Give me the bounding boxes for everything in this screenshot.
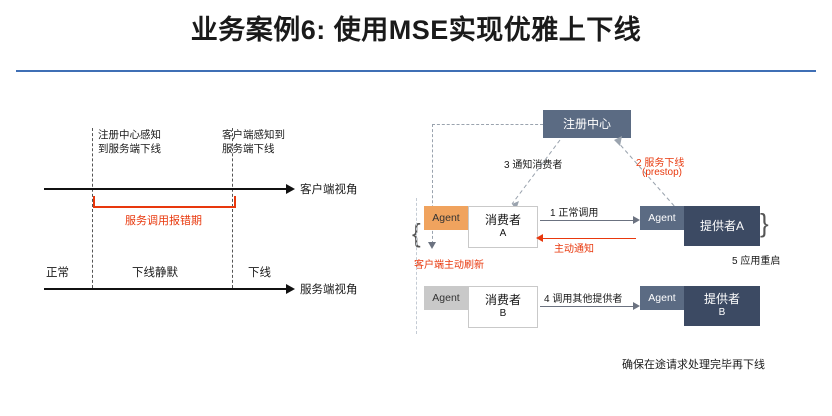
edge-label-step2-line2: (prestop) (642, 167, 682, 178)
label-registry-notify-line1: 注册中心感知 (98, 128, 161, 142)
server-timeline-axis (44, 288, 288, 290)
edge-step1-line (540, 220, 634, 221)
page-title: 业务案例6: 使用MSE实现优雅上下线 (0, 8, 832, 47)
timeline-panel: 注册中心感知 到服务端下线 客户端感知到 服务端下线 客户端视角 服务调用报错期… (0, 80, 400, 416)
agent-provider-a-label: Agent (648, 212, 675, 224)
client-timeline-axis (44, 188, 288, 190)
label-server-view: 服务端视角 (300, 281, 358, 297)
edge-active-notify-line (542, 238, 636, 239)
node-provider-b-label: 提供者 (704, 292, 740, 306)
provider-a-brace: } (760, 210, 769, 236)
edge-step1-arrow (633, 216, 640, 224)
edge-step4-line (540, 306, 634, 307)
title-divider (16, 70, 816, 72)
timeline-marker-1 (92, 128, 93, 288)
label-client-perceive-line1: 客户端感知到 (222, 128, 285, 142)
edge-label-step5: 5 应用重启 (732, 252, 780, 267)
label-phase-normal: 正常 (46, 264, 69, 280)
edge-step4-arrow (633, 302, 640, 310)
agent-provider-b-label: Agent (648, 292, 675, 304)
agent-provider-b[interactable]: Agent (640, 286, 684, 310)
node-registry-label: 注册中心 (563, 117, 611, 131)
footnote: 确保在途请求处理完毕再下线 (622, 356, 765, 372)
edge-label-step3: 3 通知消费者 (504, 156, 562, 171)
architecture-panel: 注册中心 3 通知消费者 2 服务下线 (prestop) Agent 消费者 … (400, 80, 832, 416)
client-timeline-arrow (286, 184, 295, 194)
agent-provider-a[interactable]: Agent (640, 206, 684, 230)
server-timeline-arrow (286, 284, 295, 294)
label-error-window: 服务调用报错期 (125, 212, 202, 228)
label-client-perceive-line2: 服务端下线 (222, 142, 275, 156)
edge-label-step4: 4 调用其他提供者 (544, 290, 622, 305)
error-window-bracket (93, 196, 236, 208)
label-registry-notify-line2: 到服务端下线 (98, 142, 161, 156)
node-provider-a[interactable]: 提供者A (684, 206, 760, 246)
consumer-group-box (416, 198, 547, 334)
edge-label-active-notify: 主动通知 (554, 240, 594, 255)
label-phase-silence: 下线静默 (132, 264, 178, 280)
label-phase-offline: 下线 (248, 264, 271, 280)
edge-label-step1: 1 正常调用 (550, 204, 598, 219)
label-client-view: 客户端视角 (300, 181, 358, 197)
node-provider-b[interactable]: 提供者 B (684, 286, 760, 326)
registry-dashed-route (432, 124, 543, 125)
node-provider-b-sub: B (719, 306, 726, 320)
slide-canvas: 业务案例6: 使用MSE实现优雅上下线 注册中心感知 到服务端下线 客户端感知到… (0, 0, 832, 416)
node-provider-a-label: 提供者A (700, 219, 744, 233)
node-registry[interactable]: 注册中心 (543, 110, 631, 138)
